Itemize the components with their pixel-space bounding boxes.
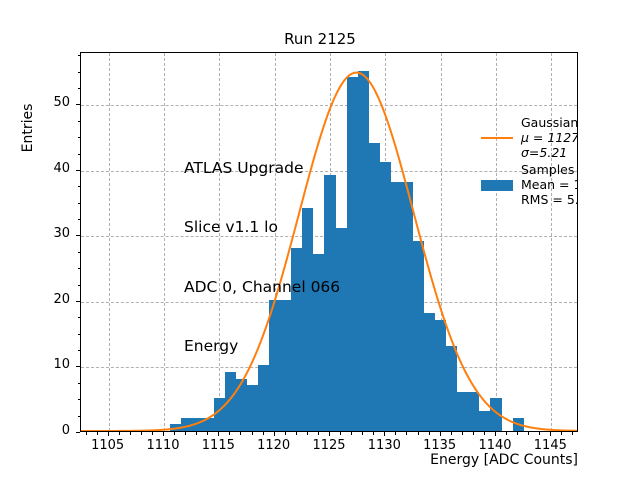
x-tick-major [218,432,219,436]
x-tick-label: 1115 [188,438,248,453]
x-tick-major [108,432,109,436]
x-tick-minor [97,432,98,435]
y-tick-label: 0 [20,423,70,438]
legend-samples-row: Mean = 1127.486 [481,177,578,192]
x-tick-minor [506,432,507,435]
x-tick-label: 1110 [133,438,193,453]
y-tick-major [76,235,80,236]
x-tick-minor [240,432,241,435]
x-tick-minor [119,432,120,435]
y-tick-major [76,104,80,105]
legend-fit-sigma: σ=5.21 [521,145,578,160]
x-tick-minor [517,432,518,435]
x-tick-label: 1130 [354,438,414,453]
y-tick-major [76,432,80,433]
y-tick-minor [78,203,81,204]
y-tick-major [76,170,80,171]
y-tick-minor [78,186,81,187]
y-tick-minor [78,72,81,73]
y-axis-label: Entries [20,48,36,208]
x-tick-minor [362,432,363,435]
x-tick-label: 1120 [244,438,304,453]
legend: Gaussian Fit: μ = 1127.49 σ=5.21 Samples… [481,115,578,209]
y-tick-major [76,366,80,367]
annotation-line-4: Energy [184,337,340,357]
y-tick-minor [78,252,81,253]
x-tick-major [163,432,164,436]
patch-swatch-icon [481,180,513,191]
x-tick-minor [296,432,297,435]
x-tick-minor [572,432,573,435]
x-tick-minor [351,432,352,435]
x-tick-minor [130,432,131,435]
x-tick-minor [528,432,529,435]
y-tick-minor [78,55,81,56]
y-tick-major [76,301,80,302]
y-tick-label: 30 [20,226,70,241]
y-tick-minor [78,350,81,351]
x-tick-minor [539,432,540,435]
x-tick-minor [429,432,430,435]
x-tick-minor [484,432,485,435]
x-tick-minor [406,432,407,435]
x-tick-major [440,432,441,436]
x-tick-major [550,432,551,436]
x-tick-minor [86,432,87,435]
x-tick-minor [285,432,286,435]
legend-samples-mean: Mean = 1127.486 [521,177,578,192]
x-tick-minor [473,432,474,435]
x-tick-minor [451,432,452,435]
x-tick-label: 1145 [520,438,580,453]
plot-area: ATLAS Upgrade Slice v1.1 lo ADC 0, Chann… [80,52,578,432]
legend-fit-block: Gaussian Fit: μ = 1127.49 σ=5.21 [481,115,578,160]
y-tick-minor [78,416,81,417]
annotation-text: ATLAS Upgrade Slice v1.1 lo ADC 0, Chann… [184,119,340,397]
y-tick-minor [78,334,81,335]
x-tick-minor [196,432,197,435]
legend-fit-header: Gaussian Fit: [521,115,578,130]
legend-fit-mu: μ = 1127.49 [521,130,578,145]
legend-fit-row: μ = 1127.49 [481,130,578,145]
y-tick-minor [78,154,81,155]
x-tick-minor [152,432,153,435]
x-tick-minor [207,432,208,435]
x-tick-label: 1140 [465,438,525,453]
x-tick-major [495,432,496,436]
x-tick-minor [395,432,396,435]
x-axis-label: Energy [ADC Counts] [0,452,640,468]
annotation-line-2: Slice v1.1 lo [184,218,340,238]
line-swatch-icon [481,137,513,139]
y-tick-minor [78,268,81,269]
y-tick-minor [78,317,81,318]
y-tick-minor [78,121,81,122]
y-tick-minor [78,219,81,220]
x-tick-major [384,432,385,436]
x-tick-minor [318,432,319,435]
x-tick-minor [263,432,264,435]
y-tick-minor [78,88,81,89]
y-tick-minor [78,399,81,400]
chart-title: Run 2125 [0,30,640,48]
annotation-line-1: ATLAS Upgrade [184,159,340,179]
x-tick-minor [561,432,562,435]
x-tick-minor [185,432,186,435]
legend-samples-block: Samples (596): Mean = 1127.486 RMS = 5.2… [481,162,578,207]
x-tick-minor [340,432,341,435]
x-tick-major [329,432,330,436]
y-tick-label: 10 [20,357,70,372]
y-tick-minor [78,137,81,138]
x-tick-label: 1105 [78,438,138,453]
x-tick-minor [174,432,175,435]
x-tick-minor [373,432,374,435]
x-tick-label: 1135 [410,438,470,453]
x-tick-minor [229,432,230,435]
x-tick-major [274,432,275,436]
histogram-figure: Run 2125 ATLAS Upgrade Slice v1.1 lo ADC… [0,0,640,480]
x-tick-minor [252,432,253,435]
annotation-line-3: ADC 0, Channel 066 [184,278,340,298]
y-tick-label: 20 [20,292,70,307]
y-tick-minor [78,285,81,286]
x-tick-minor [307,432,308,435]
x-tick-minor [141,432,142,435]
x-tick-label: 1125 [299,438,359,453]
x-tick-minor [418,432,419,435]
y-tick-minor [78,383,81,384]
x-tick-minor [462,432,463,435]
legend-samples-rms: RMS = 5.209 [521,192,578,207]
legend-samples-header: Samples (596): [521,162,578,177]
